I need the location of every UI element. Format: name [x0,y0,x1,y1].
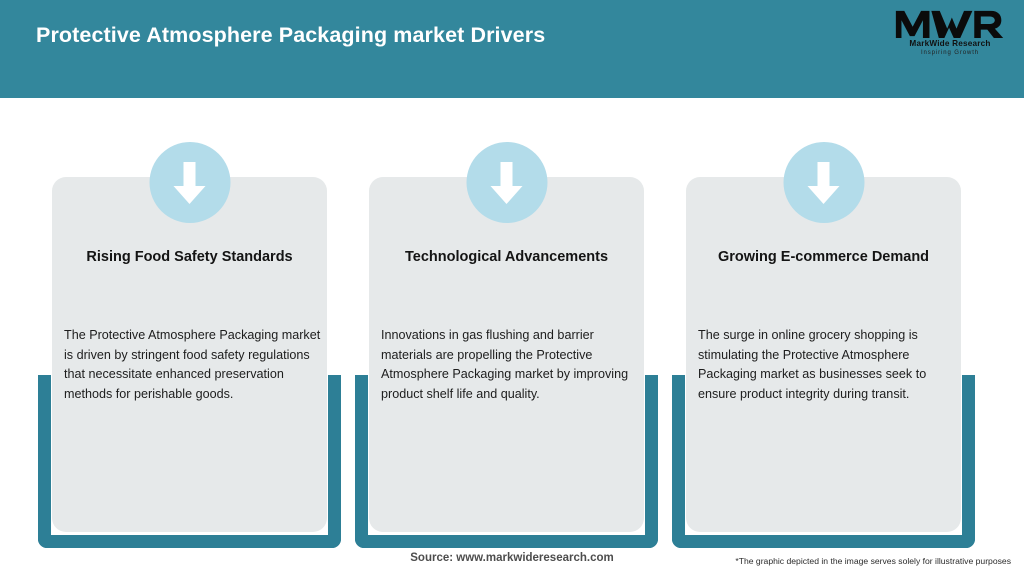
card-title: Technological Advancements [375,246,638,268]
card-description: The Protective Atmosphere Packaging mark… [64,326,322,404]
driver-card[interactable]: Rising Food Safety Standards The Protect… [36,98,343,538]
mwr-logo-icon [894,8,1006,40]
page-title: Protective Atmosphere Packaging market D… [36,23,545,48]
logo-company-name: MarkWide Research [894,39,1006,49]
driver-card[interactable]: Growing E-commerce Demand The surge in o… [670,98,977,538]
header-bar: Protective Atmosphere Packaging market D… [0,0,1024,98]
disclaimer-note: *The graphic depicted in the image serve… [735,556,1011,566]
down-arrow-icon [149,142,230,223]
card-title: Growing E-commerce Demand [692,246,955,268]
driver-card[interactable]: Technological Advancements Innovations i… [353,98,660,538]
down-arrow-icon [466,142,547,223]
brand-logo: MarkWide Research Inspiring Growth [894,8,1006,62]
card-description: Innovations in gas flushing and barrier … [381,326,639,404]
down-arrow-icon [783,142,864,223]
card-description: The surge in online grocery shopping is … [698,326,956,404]
card-title: Rising Food Safety Standards [58,246,321,268]
drivers-card-row: Rising Food Safety Standards The Protect… [0,98,1024,538]
logo-tagline: Inspiring Growth [894,49,1006,57]
